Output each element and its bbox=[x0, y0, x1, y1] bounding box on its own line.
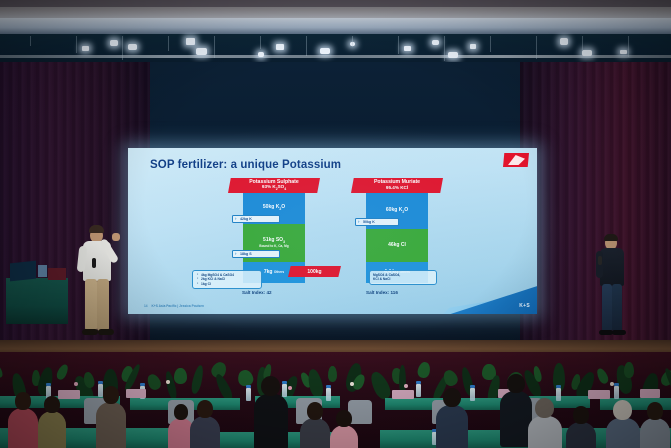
banner-potassium-muriate: Potassium Muriate 95.4% KCl bbox=[351, 178, 443, 193]
audience-member bbox=[436, 388, 468, 448]
presenter-left-shoe-b bbox=[98, 329, 114, 335]
slide-title: SOP fertilizer: a unique Potassium bbox=[150, 159, 341, 171]
presentation-slide: SOP fertilizer: a unique Potassium Potas… bbox=[128, 148, 537, 314]
decorative-plant bbox=[416, 361, 431, 379]
audience-head bbox=[44, 396, 59, 413]
stage-light-10 bbox=[404, 46, 411, 51]
decorative-plant bbox=[0, 361, 4, 378]
truss-bar bbox=[0, 55, 671, 58]
decorative-flower bbox=[166, 380, 170, 384]
audience-body bbox=[606, 418, 640, 448]
audience-member bbox=[8, 392, 38, 448]
bottle-cap bbox=[140, 383, 145, 386]
audience-member bbox=[330, 410, 358, 448]
equipment-case bbox=[48, 268, 66, 280]
audience-member bbox=[300, 402, 330, 448]
bottle-cap bbox=[98, 381, 103, 384]
stage-light-16 bbox=[620, 50, 627, 54]
stage-light-4 bbox=[186, 38, 195, 45]
audience-head bbox=[443, 388, 461, 407]
audience-body bbox=[190, 416, 220, 448]
decorative-plant bbox=[174, 368, 187, 384]
stage-light-13 bbox=[470, 44, 476, 49]
tag-50kg-k: 50kg K bbox=[355, 218, 399, 226]
audience-head bbox=[613, 400, 632, 420]
callout-line: 1kg Cl bbox=[201, 282, 258, 286]
audience-member bbox=[96, 386, 126, 446]
rigging-wire bbox=[76, 36, 77, 53]
rigging-wire bbox=[168, 36, 169, 51]
stage-light-2 bbox=[110, 40, 118, 46]
audience-head bbox=[174, 404, 188, 420]
presenter-right-shoe-a bbox=[599, 330, 613, 335]
stage-light-6 bbox=[258, 52, 264, 57]
stage-light-12 bbox=[448, 52, 458, 58]
rigging-wire bbox=[214, 36, 215, 58]
audience-head bbox=[197, 400, 214, 418]
slide-footer: 14 K+S Asia Pacific | Jessica Poulsen bbox=[144, 304, 204, 308]
audience-member bbox=[566, 406, 596, 448]
stage-light-14 bbox=[560, 38, 568, 45]
decorative-plant bbox=[306, 368, 325, 399]
presenter-left-leg-b bbox=[97, 279, 109, 331]
slide-page-number: 14 bbox=[144, 304, 148, 308]
name-card bbox=[588, 390, 610, 399]
audience-head bbox=[573, 406, 590, 424]
stage-light-5 bbox=[196, 48, 207, 55]
rigging-wire bbox=[122, 36, 123, 60]
stage-light-7 bbox=[276, 44, 284, 50]
presenter-right-leg-b bbox=[612, 284, 622, 332]
bottle-cap bbox=[416, 381, 421, 384]
bottle-cap bbox=[556, 385, 561, 388]
audience-head bbox=[261, 376, 280, 396]
k-plus-s-wordmark: K+S bbox=[519, 303, 530, 309]
slide-footer-text: K+S Asia Pacific | Jessica Poulsen bbox=[152, 304, 204, 308]
rigging-wire bbox=[260, 36, 261, 49]
audience-body bbox=[528, 416, 562, 448]
presenter-right-microphone bbox=[598, 256, 602, 265]
laptop-screen bbox=[10, 261, 36, 282]
audience-member bbox=[190, 400, 220, 448]
av-equipment-table bbox=[6, 278, 68, 324]
bottle-cap bbox=[470, 385, 475, 388]
audience-member bbox=[528, 398, 562, 448]
water-bottle bbox=[470, 388, 475, 401]
water-bottle bbox=[326, 388, 331, 401]
tag-18kg-s: 18kg S bbox=[232, 250, 280, 258]
bottle-cap bbox=[326, 385, 331, 388]
audience-body bbox=[96, 402, 126, 448]
audience-member bbox=[38, 396, 66, 448]
stage-light-15 bbox=[582, 50, 592, 56]
monitor-small bbox=[38, 265, 47, 277]
water-bottle bbox=[614, 386, 619, 399]
audience-head bbox=[507, 374, 525, 393]
callout-sop-others: 4kg MgSO4 & CaSO4 2kg KCl & NaCl 1kg Cl bbox=[192, 270, 262, 289]
audience-body bbox=[436, 405, 468, 448]
decorative-plant bbox=[55, 363, 70, 381]
presenter-left bbox=[72, 222, 126, 346]
audience-body bbox=[300, 418, 330, 448]
decorative-plant bbox=[595, 367, 610, 385]
audience-body bbox=[566, 422, 596, 448]
audience-member bbox=[640, 402, 670, 448]
badge-100kg: 100kg bbox=[288, 266, 341, 277]
audience-member bbox=[254, 376, 288, 436]
stage-light-11 bbox=[432, 40, 439, 45]
audience-head bbox=[647, 402, 664, 420]
rigging-wire bbox=[582, 36, 583, 50]
rigging-wire bbox=[490, 36, 491, 52]
water-bottle bbox=[416, 384, 421, 397]
presenter-left-shoe-a bbox=[82, 329, 98, 335]
presenter-left-microphone bbox=[92, 258, 96, 268]
callout-line: KCl & NaCl bbox=[373, 277, 433, 281]
decorative-plant bbox=[328, 366, 337, 382]
presenter-right bbox=[594, 232, 634, 344]
audience-member bbox=[606, 400, 640, 448]
audience-body bbox=[38, 411, 66, 448]
bottle-cap bbox=[246, 385, 251, 388]
audience-body bbox=[8, 408, 38, 448]
salt-index-mop: Salt Index: 116 bbox=[366, 290, 398, 295]
audience-head bbox=[103, 386, 120, 404]
bottle-cap bbox=[614, 383, 619, 386]
decorative-plant bbox=[145, 372, 163, 392]
rigging-wire bbox=[352, 36, 353, 47]
ceiling-edge-beam bbox=[0, 18, 671, 34]
stage-light-8 bbox=[320, 48, 330, 54]
stage-light-3 bbox=[128, 44, 137, 50]
decorative-plant bbox=[624, 362, 634, 378]
name-card bbox=[126, 389, 146, 398]
presenter-right-shoe-b bbox=[612, 330, 626, 335]
name-card bbox=[640, 389, 660, 398]
audience-head bbox=[15, 392, 32, 410]
decorative-plant bbox=[190, 364, 205, 394]
rigging-wire bbox=[536, 36, 537, 59]
audience-body bbox=[330, 425, 358, 448]
rigging-wire bbox=[30, 36, 31, 46]
presenter-right-shirt bbox=[600, 248, 624, 286]
photo-scene: SOP fertilizer: a unique Potassium Potas… bbox=[0, 0, 671, 448]
bottle-cap bbox=[46, 383, 51, 386]
audience-head bbox=[535, 398, 554, 418]
presenter-left-hair bbox=[89, 225, 104, 233]
decorative-flower bbox=[350, 382, 354, 386]
stage-light-1 bbox=[82, 46, 89, 51]
decorative-plant bbox=[367, 369, 393, 402]
name-card bbox=[392, 390, 414, 399]
presenter-right-leg-a bbox=[602, 284, 612, 332]
callout-mop-others: MgSO4 & CaSO4, KCl & NaCl bbox=[369, 270, 437, 285]
rigging-wire bbox=[444, 36, 445, 61]
banner-potassium-sulphate: Potassium Sulphate 93% K2SO4 bbox=[228, 178, 320, 193]
audience-body bbox=[640, 418, 670, 448]
audience-body bbox=[254, 394, 288, 448]
segment-cl-mop: 46kg Cl bbox=[366, 229, 428, 262]
rigging-wire bbox=[628, 36, 629, 57]
audience-head bbox=[336, 410, 351, 427]
decorative-flower bbox=[74, 382, 78, 386]
tag-42kg-k: 42kg K bbox=[232, 215, 280, 223]
presenter-left-leg-a bbox=[85, 279, 97, 331]
ceiling-shadow bbox=[0, 0, 671, 7]
rigging-wire bbox=[398, 36, 399, 54]
audience-head bbox=[307, 402, 324, 420]
rigging-wire bbox=[306, 36, 307, 56]
k-plus-s-logo-icon bbox=[503, 153, 529, 167]
presenter-right-hair bbox=[604, 234, 618, 241]
presenter-left-fist bbox=[112, 233, 120, 241]
decorative-flower bbox=[404, 384, 408, 388]
projection-screen: SOP fertilizer: a unique Potassium Potas… bbox=[128, 148, 537, 314]
decorative-flower bbox=[288, 386, 292, 390]
water-bottle bbox=[246, 388, 251, 401]
salt-index-sop: Salt Index: 42 bbox=[242, 290, 272, 295]
